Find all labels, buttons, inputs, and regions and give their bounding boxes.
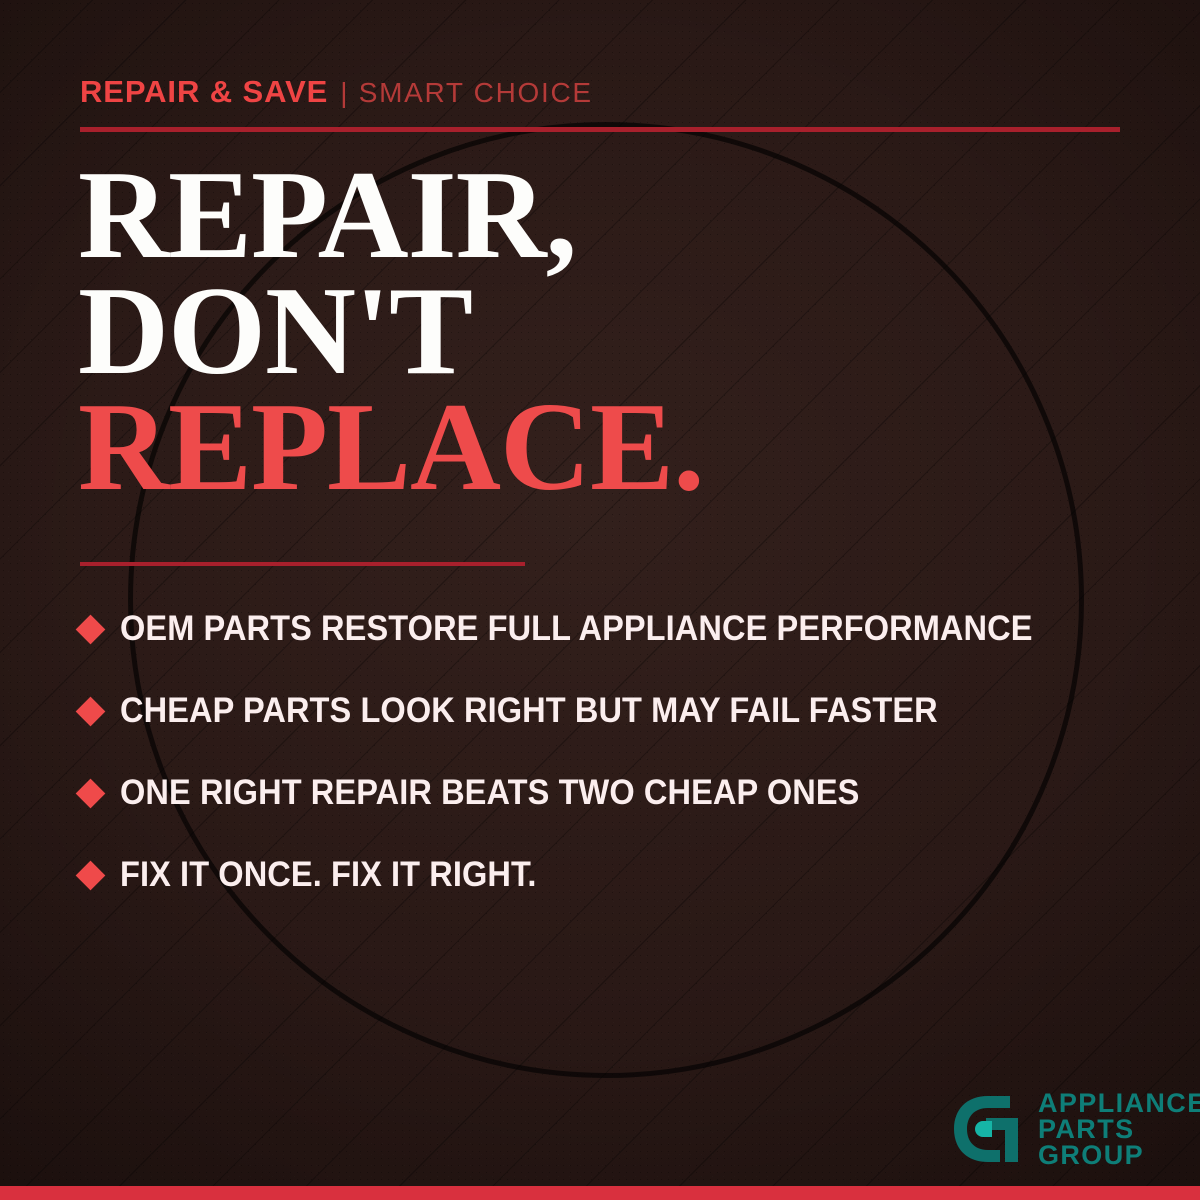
headline-line-3: REPLACE. [78,390,1118,506]
brand-logo-line-1: APPLIANCE [1038,1090,1200,1116]
bottom-accent-bar [0,1186,1200,1200]
brand-logo-text: APPLIANCE PARTS GROUP [1038,1090,1200,1169]
list-item: CHEAP PARTS LOOK RIGHT BUT MAY FAIL FAST… [80,670,1150,752]
headline-divider-rule [80,562,525,566]
header-divider-rule [80,127,1120,132]
list-item-label: ONE RIGHT REPAIR BEATS TWO CHEAP ONES [120,773,859,813]
page-title: REPAIR, DON'T REPLACE. [78,158,1118,506]
list-item-label: CHEAP PARTS LOOK RIGHT BUT MAY FAIL FAST… [120,691,938,731]
benefits-list: OEM PARTS RESTORE FULL APPLIANCE PERFORM… [80,588,1150,916]
promo-poster: REPAIR & SAVE | SMART CHOICE REPAIR, DON… [0,0,1200,1200]
headline-line-1: REPAIR, [78,158,1118,274]
list-item: ONE RIGHT REPAIR BEATS TWO CHEAP ONES [80,752,1150,834]
eyebrow-sub-label: | SMART CHOICE [340,77,593,109]
brand-logo-line-2: PARTS [1038,1116,1200,1142]
list-item-label: FIX IT ONCE. FIX IT RIGHT. [120,855,537,895]
list-item: OEM PARTS RESTORE FULL APPLIANCE PERFORM… [80,588,1150,670]
diamond-bullet-icon [76,614,106,644]
list-item: FIX IT ONCE. FIX IT RIGHT. [80,834,1150,916]
list-item-label: OEM PARTS RESTORE FULL APPLIANCE PERFORM… [120,609,1033,649]
brand-logo-line-3: GROUP [1038,1142,1200,1168]
poster-content: REPAIR & SAVE | SMART CHOICE REPAIR, DON… [0,0,1200,1200]
eyebrow: REPAIR & SAVE | SMART CHOICE [80,74,593,110]
brand-logo: APPLIANCE PARTS GROUP [948,1090,1200,1169]
diamond-bullet-icon [76,860,106,890]
diamond-bullet-icon [76,778,106,808]
diamond-bullet-icon [76,696,106,726]
eyebrow-main-label: REPAIR & SAVE [80,74,328,110]
headline-line-2: DON'T [78,274,1118,390]
g-monogram-icon [948,1090,1026,1168]
